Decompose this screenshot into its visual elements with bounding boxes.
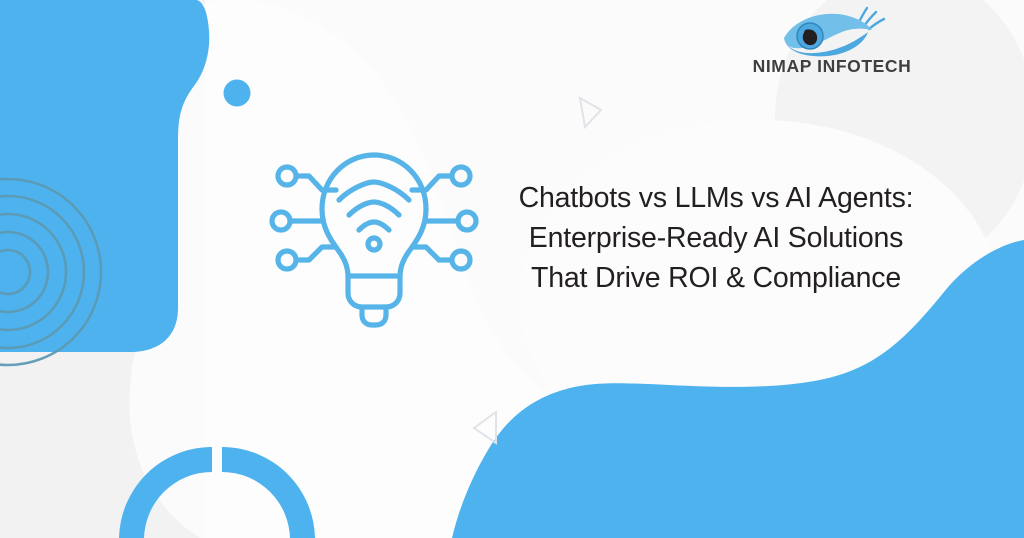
lightbulb-wifi-circuit-icon	[266, 143, 482, 329]
headline: Chatbots vs LLMs vs AI Agents: Enterpris…	[466, 178, 966, 298]
headline-line-3: That Drive ROI & Compliance	[466, 258, 966, 298]
circuit-node-left-mid	[272, 212, 290, 230]
brand-logo: NIMAP INFOTECH	[742, 6, 922, 88]
bulb-glass	[322, 155, 426, 276]
eye-with-lashes-icon	[772, 6, 892, 58]
blue-dot	[224, 80, 251, 107]
circuit-node-left-bottom	[278, 251, 296, 269]
bulb-base	[362, 307, 386, 325]
wifi-arc-middle	[349, 202, 399, 215]
circuit-node-left-top	[278, 167, 296, 185]
headline-line-1: Chatbots vs LLMs vs AI Agents:	[466, 178, 966, 218]
blog-banner: Chatbots vs LLMs vs AI Agents: Enterpris…	[0, 0, 1024, 538]
circuit-trace-left-bottom	[298, 247, 336, 260]
wifi-arc-outer	[339, 182, 409, 200]
headline-line-2: Enterprise-Ready AI Solutions	[466, 218, 966, 258]
wifi-arc-inner	[359, 222, 389, 230]
bulb-neck	[348, 276, 400, 307]
wifi-dot	[368, 238, 380, 250]
brand-name: NIMAP INFOTECH	[742, 56, 922, 77]
blue-blob-top-left	[0, 0, 209, 352]
circuit-trace-right-bottom	[412, 247, 450, 260]
